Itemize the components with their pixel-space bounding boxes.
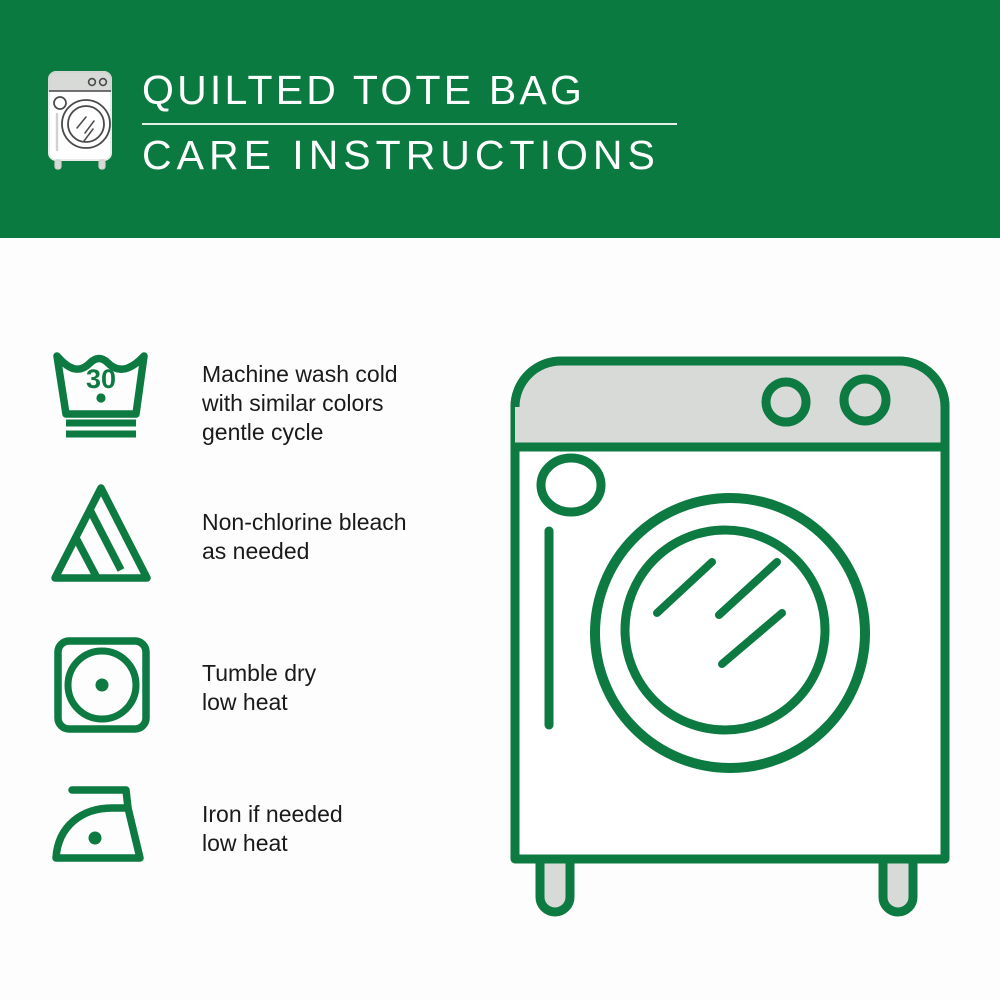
iron-low-heat-symbol bbox=[50, 780, 158, 875]
washing-machine-icon bbox=[44, 62, 122, 172]
care-symbol-wrapper bbox=[50, 780, 160, 875]
care-symbol-wrapper bbox=[50, 635, 160, 735]
dry-heat-dot-icon bbox=[96, 679, 109, 692]
machine-wash-30-symbol: 30 bbox=[50, 340, 158, 440]
header-band: QUILTED TOTE BAG CARE INSTRUCTIONS bbox=[0, 0, 1000, 238]
care-row-bleach: Non-chlorine bleach as needed bbox=[50, 480, 480, 635]
wash-dot-icon bbox=[96, 393, 105, 402]
care-symbol-wrapper: 30 bbox=[50, 340, 160, 440]
care-line: gentle cycle bbox=[202, 418, 398, 447]
care-text-iron: Iron if needed low heat bbox=[160, 780, 343, 858]
wash-temperature-label: 30 bbox=[86, 364, 116, 394]
care-line: Iron if needed bbox=[202, 800, 343, 829]
care-text-tumble-dry: Tumble dry low heat bbox=[160, 635, 316, 717]
care-line: Non-chlorine bleach bbox=[202, 508, 407, 537]
page-subtitle: CARE INSTRUCTIONS bbox=[142, 131, 677, 179]
care-row-tumble-dry: Tumble dry low heat bbox=[50, 635, 480, 780]
iron-heat-dot-icon bbox=[89, 832, 102, 845]
machine-control-panel bbox=[515, 361, 945, 447]
care-line: with similar colors bbox=[202, 389, 398, 418]
front-load-washing-machine-illustration bbox=[495, 335, 965, 925]
machine-leg bbox=[540, 859, 570, 912]
care-instruction-list: 30 Machine wash cold with similar colors… bbox=[50, 340, 480, 875]
machine-leg bbox=[883, 859, 913, 912]
care-line: as needed bbox=[202, 537, 407, 566]
care-line: low heat bbox=[202, 688, 316, 717]
header-divider bbox=[142, 123, 677, 125]
header-title-group: QUILTED TOTE BAG CARE INSTRUCTIONS bbox=[142, 62, 677, 179]
care-text-bleach: Non-chlorine bleach as needed bbox=[160, 480, 407, 566]
header-content: QUILTED TOTE BAG CARE INSTRUCTIONS bbox=[44, 62, 677, 179]
care-line: Machine wash cold bbox=[202, 360, 398, 389]
care-text-machine-wash: Machine wash cold with similar colors ge… bbox=[160, 340, 398, 447]
non-chlorine-bleach-symbol bbox=[50, 480, 158, 590]
care-line: low heat bbox=[202, 829, 343, 858]
care-row-iron: Iron if needed low heat bbox=[50, 780, 480, 875]
care-row-machine-wash: 30 Machine wash cold with similar colors… bbox=[50, 340, 480, 480]
tumble-dry-low-symbol bbox=[50, 635, 158, 735]
care-line: Tumble dry bbox=[202, 659, 316, 688]
care-symbol-wrapper bbox=[50, 480, 160, 590]
page-title: QUILTED TOTE BAG bbox=[142, 66, 677, 114]
